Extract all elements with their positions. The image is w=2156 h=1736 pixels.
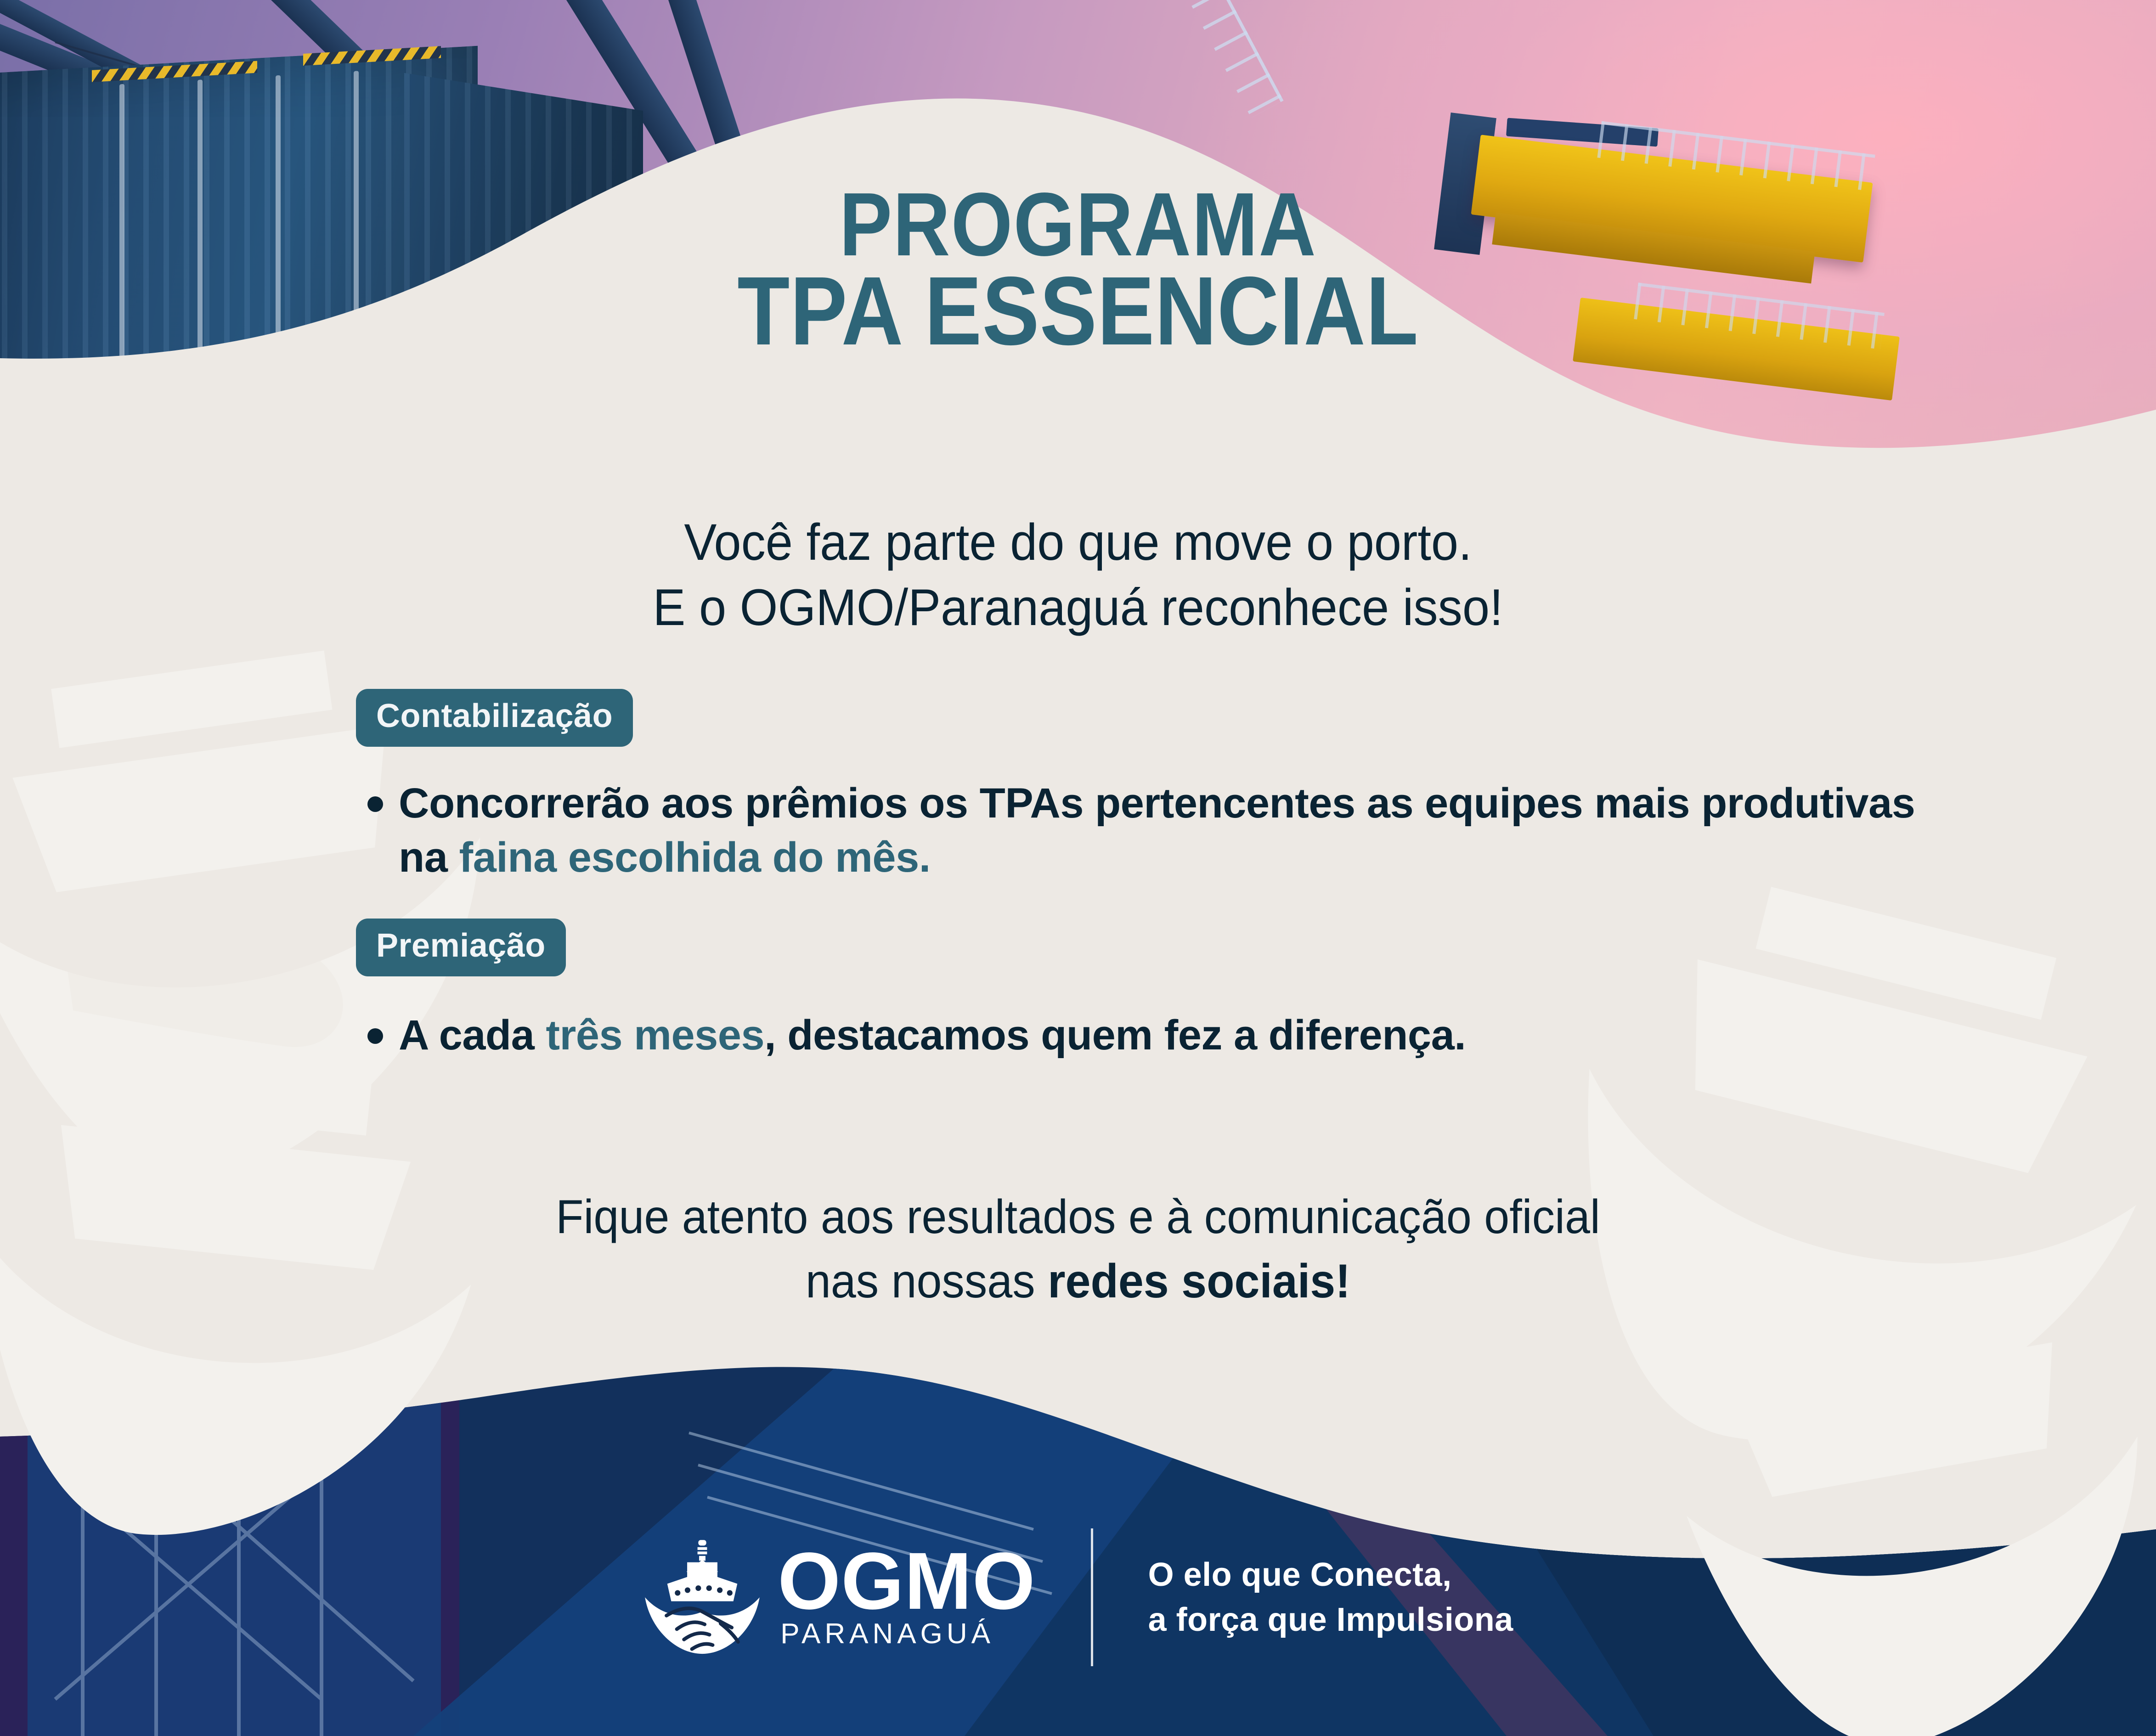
ogmo-name: OGMO [778, 1544, 1035, 1618]
bullet-1-highlight: faina escolhida do mês. [459, 834, 930, 881]
bullet-text-1: Concorrerão aos prêmios os TPAs pertence… [399, 776, 1975, 885]
poster-content: PROGRAMA TPA ESSENCIAL Você faz parte do… [0, 0, 2156, 1736]
subtitle-line-1: Você faz parte do que move o porto. [54, 510, 2102, 575]
subtitle-block: Você faz parte do que move o porto. E o … [54, 510, 2102, 640]
bullet-item-1: Concorrerão aos prêmios os TPAs pertence… [367, 776, 1975, 885]
footer-tagline: O elo que Conecta, a força que Impulsion… [1148, 1552, 1513, 1642]
badge-premiacao: Premiação [356, 919, 566, 976]
ship-handshake-logo-icon [643, 1535, 762, 1659]
tagline-line-2: a força que Impulsiona [1148, 1597, 1513, 1642]
bullet-2-highlight: três meses [546, 1012, 764, 1059]
ogmo-logo: OGMO PARANAGUÁ [643, 1535, 1035, 1659]
ogmo-wordmark: OGMO PARANAGUÁ [778, 1544, 1035, 1650]
bullet-2-suffix: , destacamos quem fez a diferença. [764, 1012, 1466, 1059]
bullet-dot-icon [367, 796, 383, 812]
poster-canvas: CAUTIONHIGHTRAILER 080527 B45G1 [0, 0, 2156, 1736]
closing-block: Fique atento aos resultados e à comunica… [54, 1185, 2102, 1313]
closing-line-2: nas nossas redes sociais! [54, 1249, 2102, 1313]
footer-bar: OGMO PARANAGUÁ O elo que Conecta, a forç… [0, 1528, 2156, 1666]
title-line-2: TPA ESSENCIAL [130, 268, 2027, 354]
bullet-dot-icon [367, 1028, 383, 1044]
bullet-item-2: A cada três meses, destacamos quem fez a… [367, 1008, 1975, 1062]
title-block: PROGRAMA TPA ESSENCIAL [0, 181, 2156, 354]
footer-divider [1091, 1528, 1093, 1666]
bullet-text-2: A cada três meses, destacamos quem fez a… [399, 1008, 1466, 1062]
subtitle-line-2: E o OGMO/Paranaguá reconhece isso! [54, 575, 2102, 640]
closing-line-2-bold: redes sociais! [1048, 1255, 1350, 1308]
ogmo-city: PARANAGUÁ [780, 1618, 994, 1650]
bullet-2-prefix: A cada [399, 1012, 546, 1059]
badge-contabilizacao: Contabilização [356, 689, 633, 747]
closing-line-1: Fique atento aos resultados e à comunica… [54, 1185, 2102, 1249]
tagline-line-1: O elo que Conecta, [1148, 1552, 1513, 1597]
title-line-1: PROGRAMA [130, 181, 2027, 268]
closing-line-2-prefix: nas nossas [806, 1255, 1048, 1308]
